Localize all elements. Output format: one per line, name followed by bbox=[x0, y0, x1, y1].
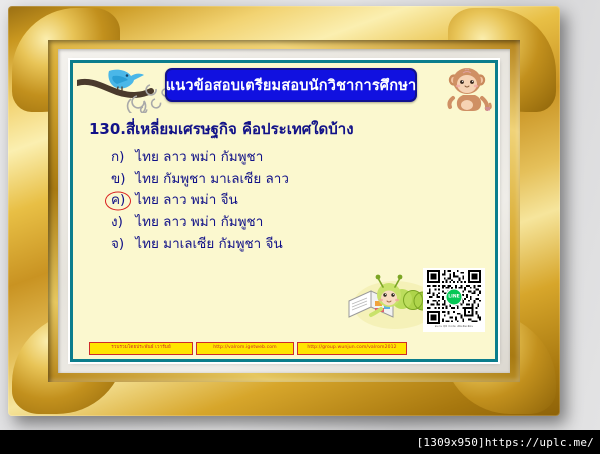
question-text: 130.สี่เหลี่ยมเศรษฐกิจ คือประเทศใดบ้าง bbox=[89, 119, 495, 141]
choice-option-selected[interactable]: ค) ไทย ลาว พม่า จีน bbox=[111, 190, 495, 212]
watermark-bar: [1309x950]https://uplc.me/ bbox=[0, 430, 600, 454]
footer-bar: รวบรวมโดยประพันธ์ เวารัมย์ http://valrom… bbox=[73, 337, 495, 359]
artwork-row: LINE สแกน QR Code เพื่อเพิ่มเพื่อน bbox=[73, 267, 495, 333]
qr-code-icon[interactable]: LINE สแกน QR Code เพื่อเพิ่มเพื่อน bbox=[423, 268, 485, 332]
slide-title-banner: แนวข้อสอบเตรียมสอบนักวิชาการศึกษา bbox=[165, 68, 417, 102]
question-block: 130.สี่เหลี่ยมเศรษฐกิจ คือประเทศใดบ้าง ก… bbox=[73, 113, 495, 256]
choice-list: ก) ไทย ลาว พม่า กัมพูชา ข) ไทย กัมพูชา ม… bbox=[111, 147, 495, 256]
choice-text: ไทย กัมพูชา มาเลเซีย ลาว bbox=[135, 171, 289, 187]
picture-frame: แนวข้อสอบเตรียมสอบนักวิชาการศึกษา bbox=[8, 6, 560, 416]
choice-text: ไทย ลาว พม่า กัมพูชา bbox=[135, 149, 263, 165]
credit-badge: รวบรวมโดยประพันธ์ เวารัมย์ bbox=[89, 342, 193, 355]
qr-caption: สแกน QR Code เพื่อเพิ่มเพื่อน bbox=[425, 325, 483, 328]
choice-text: ไทย ลาว พม่า จีน bbox=[135, 192, 237, 208]
choice-label: จ) bbox=[111, 234, 131, 256]
watermark-text: [1309x950]https://uplc.me/ bbox=[417, 436, 594, 449]
choice-option[interactable]: ข) ไทย กัมพูชา มาเลเซีย ลาว bbox=[111, 169, 495, 191]
choice-label: ค) bbox=[111, 190, 131, 212]
quiz-slide: แนวข้อสอบเตรียมสอบนักวิชาการศึกษา bbox=[70, 60, 498, 362]
group-link-button[interactable]: http://group.wunjun.com/valrom2012 bbox=[297, 342, 407, 355]
choice-text: ไทย มาเลเซีย กัมพูชา จีน bbox=[135, 236, 282, 252]
choice-label: ง) bbox=[111, 212, 131, 234]
choice-text: ไทย ลาว พม่า กัมพูชา bbox=[135, 214, 263, 230]
choice-option[interactable]: ง) ไทย ลาว พม่า กัมพูชา bbox=[111, 212, 495, 234]
choice-option[interactable]: จ) ไทย มาเลเซีย กัมพูชา จีน bbox=[111, 234, 495, 256]
bird-icon bbox=[77, 63, 175, 113]
group-url: http://group.wunjun.com/valrom2012 bbox=[307, 346, 396, 351]
qr-canvas: LINE bbox=[425, 270, 483, 324]
choice-label: ข) bbox=[111, 169, 131, 191]
site-url: http://valrom.igetweb.com bbox=[213, 346, 277, 351]
screenshot-stage: แนวข้อสอบเตรียมสอบนักวิชาการศึกษา bbox=[0, 0, 600, 454]
choice-option[interactable]: ก) ไทย ลาว พม่า กัมพูชา bbox=[111, 147, 495, 169]
slide-title: แนวข้อสอบเตรียมสอบนักวิชาการศึกษา bbox=[166, 74, 417, 97]
line-badge: LINE bbox=[446, 289, 463, 306]
credit-text: รวบรวมโดยประพันธ์ เวารัมย์ bbox=[111, 346, 171, 351]
monkey-mascot-icon bbox=[445, 64, 493, 114]
site-link-button[interactable]: http://valrom.igetweb.com bbox=[196, 342, 294, 355]
slide-header: แนวข้อสอบเตรียมสอบนักวิชาการศึกษา bbox=[73, 63, 495, 113]
choice-label: ก) bbox=[111, 147, 131, 169]
